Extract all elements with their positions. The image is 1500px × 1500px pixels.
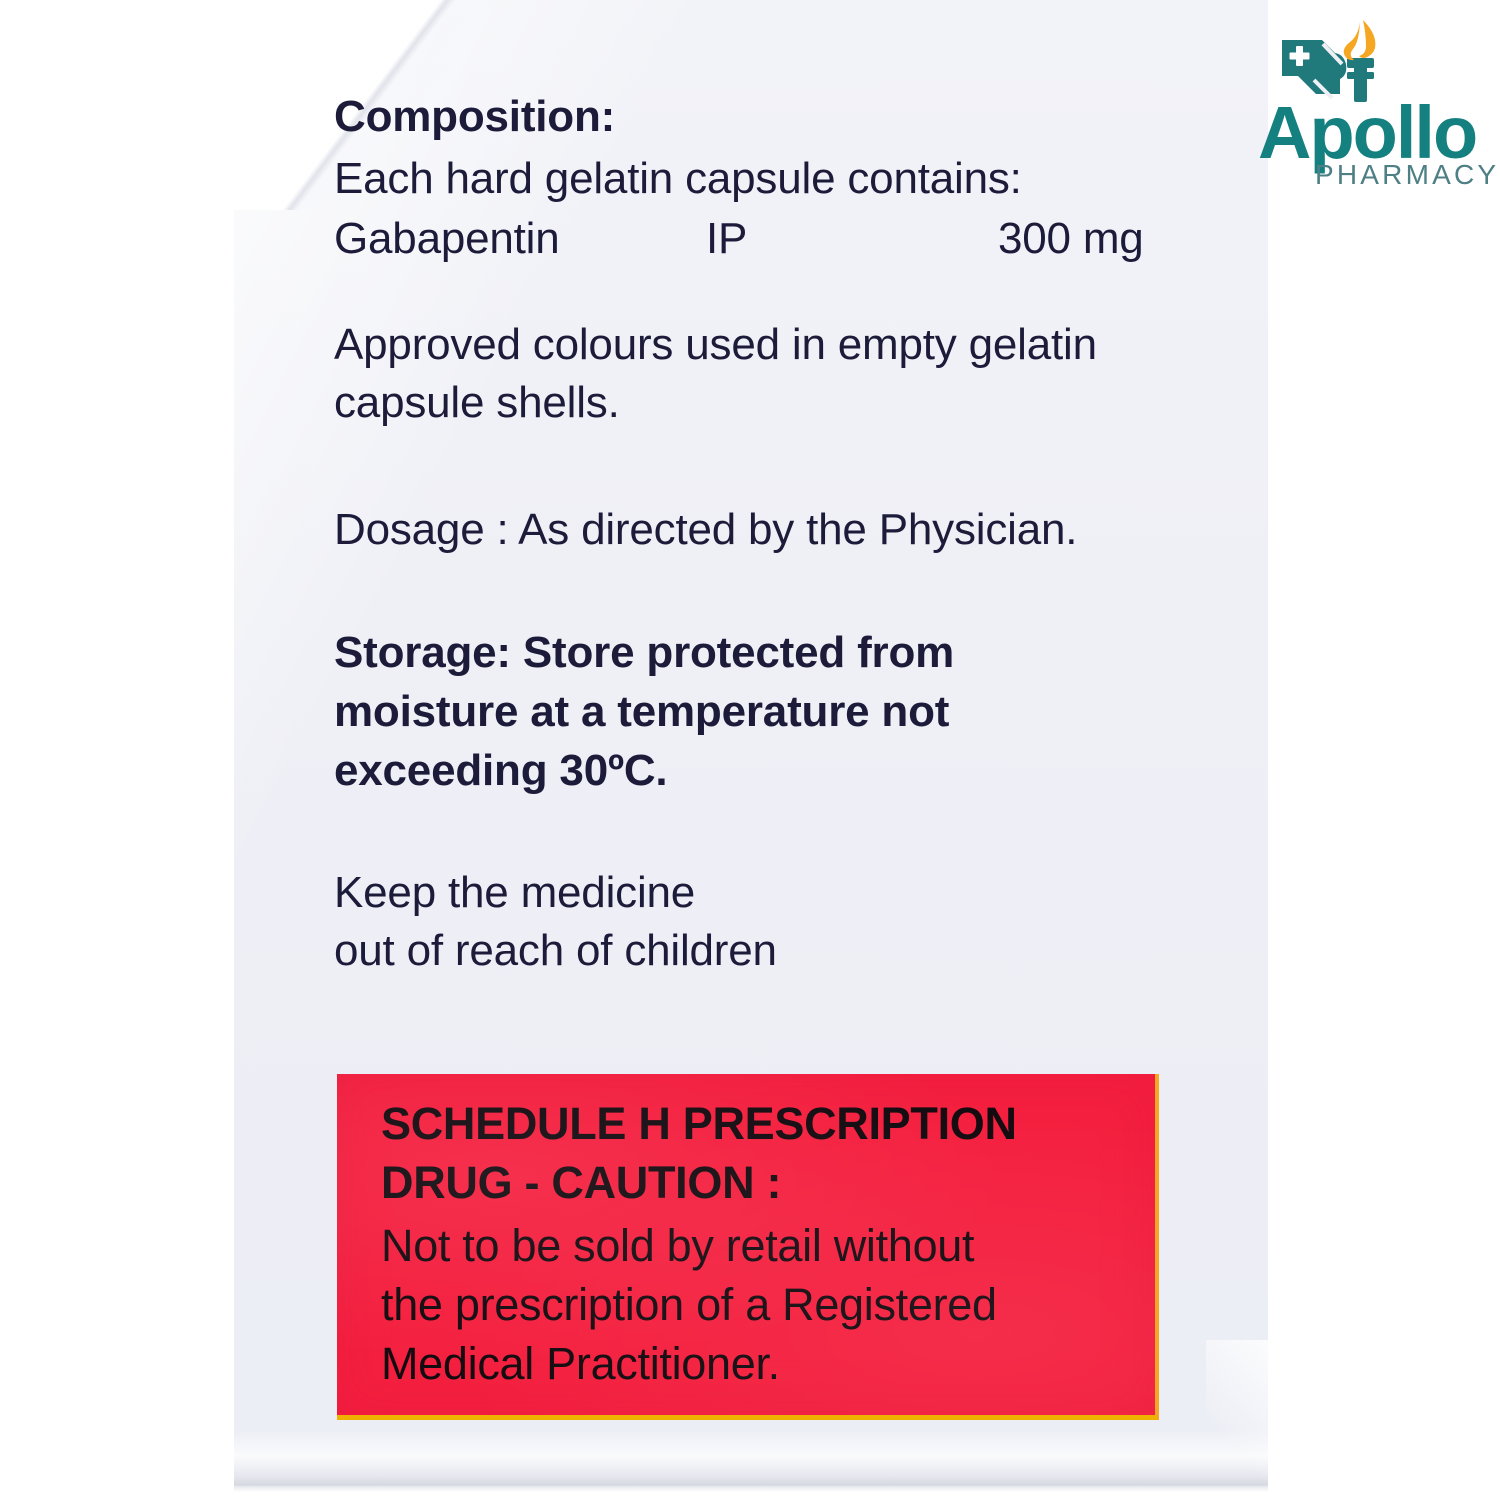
apollo-pharmacy-logo: Apollo PHARMACY	[1258, 18, 1490, 186]
schedule-h-body-line-2: the prescription of a Registered	[381, 1279, 997, 1331]
storage-line-2: moisture at a temperature not	[334, 687, 949, 737]
schedule-h-headline-1: SCHEDULE H PRESCRIPTION	[381, 1098, 1017, 1150]
composition-heading: Composition:	[334, 92, 615, 142]
apollo-pharmacy-subword: PHARMACY	[1315, 161, 1499, 189]
schedule-h-body-line-1: Not to be sold by retail without	[381, 1220, 974, 1272]
ingredient-name: Gabapentin	[334, 214, 560, 264]
ingredient-standard: IP	[706, 214, 747, 264]
storage-line-1: Storage: Store protected from	[334, 628, 954, 678]
children-warning-line-2: out of reach of children	[334, 926, 777, 976]
children-warning-line-1: Keep the medicine	[334, 868, 695, 918]
schedule-h-headline-2: DRUG - CAUTION :	[381, 1157, 781, 1209]
schedule-h-warning-panel: SCHEDULE H PRESCRIPTION DRUG - CAUTION :…	[337, 1074, 1159, 1420]
colours-note-line-1: Approved colours used in empty gelatin	[334, 320, 1097, 370]
ingredient-strength: 300 mg	[998, 214, 1144, 264]
composition-contains-line: Each hard gelatin capsule contains:	[334, 154, 1022, 204]
dosage-line: Dosage : As directed by the Physician.	[334, 505, 1077, 555]
colours-note-line-2: capsule shells.	[334, 378, 620, 428]
product-package-photo: Composition: Each hard gelatin capsule c…	[0, 0, 1500, 1500]
torch-flame-icon	[1344, 20, 1376, 60]
schedule-h-body-line-3: Medical Practitioner.	[381, 1338, 780, 1390]
storage-line-3: exceeding 30ºC.	[334, 746, 667, 796]
